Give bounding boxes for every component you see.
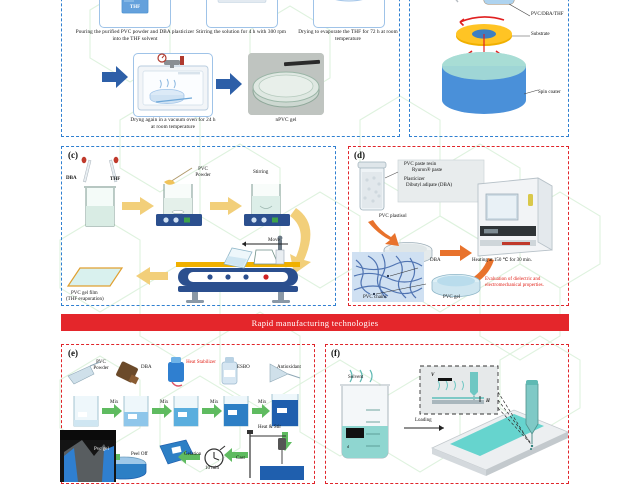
panel-e-heat-stir-label: Heat & Stir bbox=[258, 425, 281, 431]
panel-e-mix-label-4: Mix bbox=[258, 400, 266, 406]
panel-e-art bbox=[64, 352, 312, 482]
oven-icon bbox=[478, 178, 552, 256]
heat-stabilizer-bottle-icon bbox=[168, 357, 184, 386]
panel-b-spin-coater-label: Spin coater bbox=[538, 90, 561, 96]
panel-d-box-line-2: Ryuron® paste bbox=[412, 168, 442, 174]
heat-stir-rig-icon bbox=[247, 430, 304, 480]
rapid-manufacturing-banner: Rapid manufacturing technologies bbox=[61, 314, 569, 331]
panel-e-timer-label: 10 min bbox=[205, 466, 219, 472]
panel-a-step2-caption: Stirring the solution for 4 h with 300 r… bbox=[189, 29, 293, 36]
panel-c-dba-label: DBA bbox=[66, 176, 77, 182]
panel-a-step3-card: Solution bbox=[313, 0, 385, 28]
panel-d-plastisol-label: PVC plastisol bbox=[379, 214, 407, 220]
panel-a-step1-caption: Pouring the purified PVC powder and DBA … bbox=[74, 29, 196, 42]
petri-dish-icon: Solution bbox=[314, 0, 384, 27]
panel-a-step2-card: 300 rpm bbox=[206, 0, 278, 28]
panel-b-substrate-label: Substrate bbox=[531, 32, 550, 38]
panel-e-pvc-gel-label: Pvc gel bbox=[94, 447, 109, 453]
pvc-gel-film-icon bbox=[68, 268, 122, 286]
svg-text:THF: THF bbox=[130, 5, 140, 10]
panel-f-height-symbol: H bbox=[486, 399, 490, 405]
vacuum-oven-icon bbox=[134, 54, 212, 116]
panel-b-solution-label: PVC/DBA/THF bbox=[531, 12, 564, 18]
panel-a-step1-card: THF bbox=[99, 0, 171, 28]
substrate-plate-icon bbox=[432, 410, 568, 476]
beaker-e1-icon bbox=[74, 396, 98, 426]
esbo-bottle-icon bbox=[222, 357, 237, 384]
panel-d-gel-label: PVC gel bbox=[443, 295, 460, 301]
panel-f-beaker-volume-label: d bbox=[347, 445, 349, 450]
panel-e-mix-label-2: Mix bbox=[160, 400, 168, 406]
panel-e-peel-off-label: Peel Off bbox=[131, 452, 148, 458]
panel-e-pvc-powder-label: PVC Powder bbox=[88, 360, 114, 372]
beaker-e5-icon bbox=[272, 394, 298, 426]
beaker-c1-icon bbox=[84, 187, 116, 226]
panel-c-move-label: Move bbox=[268, 238, 280, 244]
panel-e-gelation-label: Gelation bbox=[184, 452, 201, 458]
beaker-e2-icon bbox=[124, 396, 148, 426]
panel-c-arrow-2 bbox=[210, 197, 242, 215]
panel-d-chains-label: PVC chains bbox=[363, 295, 387, 301]
panel-a-step4-card bbox=[133, 53, 213, 117]
figure-root: THF Pouring the purified PVC powder and … bbox=[0, 0, 630, 472]
panel-a-gel-photo bbox=[248, 53, 324, 115]
panel-d-arrow-1 bbox=[368, 220, 399, 246]
pvc-gel-photo-e bbox=[60, 430, 116, 482]
panel-e-esbo-label: ESBO bbox=[237, 365, 250, 371]
panel-e-heat-stabilizer-label: Heat Stabilizer bbox=[186, 360, 216, 366]
panel-c-thf-label: THF bbox=[110, 177, 120, 183]
npvc-gel-photo-art bbox=[248, 53, 324, 115]
panel-d-arrow-2 bbox=[440, 245, 472, 261]
panel-f-art bbox=[328, 352, 568, 482]
dba-bottle-icon bbox=[115, 361, 139, 384]
panel-c-arrow-1 bbox=[122, 197, 154, 215]
panel-d-heating-label: Heating at 150 ℃ for 30 min. bbox=[472, 258, 532, 264]
resin-jar-icon bbox=[358, 162, 386, 210]
panel-c-arrow-3 bbox=[136, 267, 168, 285]
timer-icon bbox=[205, 446, 225, 467]
panel-e-mix-label-3: Mix bbox=[210, 400, 218, 406]
panel-a-step3-caption: Drying to evaporate the THF for 72 h at … bbox=[294, 29, 402, 42]
panel-f-solvent-label: Solvent bbox=[348, 375, 363, 381]
beaker-e4-icon bbox=[224, 396, 248, 426]
beaker-e3-icon bbox=[174, 396, 198, 426]
beaker-thf-icon: THF bbox=[100, 0, 170, 27]
panel-f-loading-label: Loading bbox=[415, 418, 432, 424]
panel-c-thf-evap-label: (THF evaporation) bbox=[66, 297, 104, 303]
spin-coater-icon bbox=[442, 52, 526, 114]
film-applicator-icon bbox=[176, 236, 300, 303]
panel-a-arrow-4 bbox=[216, 73, 242, 95]
panel-e-mix-label-1: Mix bbox=[110, 400, 118, 406]
panel-b-art bbox=[412, 0, 566, 134]
panel-a-arrow-3 bbox=[102, 66, 128, 88]
panel-d-dba-label: DBA bbox=[430, 258, 441, 264]
pipette-dba-icon bbox=[82, 157, 91, 182]
hotplate-2-icon bbox=[244, 184, 290, 226]
magnetic-stirrer-icon: 300 rpm bbox=[207, 0, 277, 27]
panel-a-step5-caption: nPVC gel bbox=[252, 117, 320, 124]
panel-a-step4-caption: Dryng again in a vacuum oven for 24 h at… bbox=[130, 117, 216, 130]
panel-e-cast-label: Cast bbox=[236, 456, 245, 462]
panel-d-box-line-4: Dibutyl adipate (DBA) bbox=[406, 183, 452, 189]
pvc-gel-dish-icon bbox=[432, 274, 480, 296]
dropper-icon bbox=[430, 0, 458, 2]
panel-c-pvc-powder-label: PVC Powder bbox=[192, 167, 214, 179]
panel-d-evaluation-label: Evaluation of dielectric and electromech… bbox=[485, 277, 561, 290]
panel-e-antioxidant-label: Antioxidant bbox=[277, 365, 301, 371]
panel-e-dba-label: DBA bbox=[141, 365, 152, 371]
banner-label: Rapid manufacturing technologies bbox=[252, 318, 379, 328]
panel-c-stirring-label: Stirring bbox=[253, 170, 268, 176]
beaker-icon bbox=[482, 0, 519, 4]
panel-f-voltage-symbol: V bbox=[431, 373, 434, 379]
